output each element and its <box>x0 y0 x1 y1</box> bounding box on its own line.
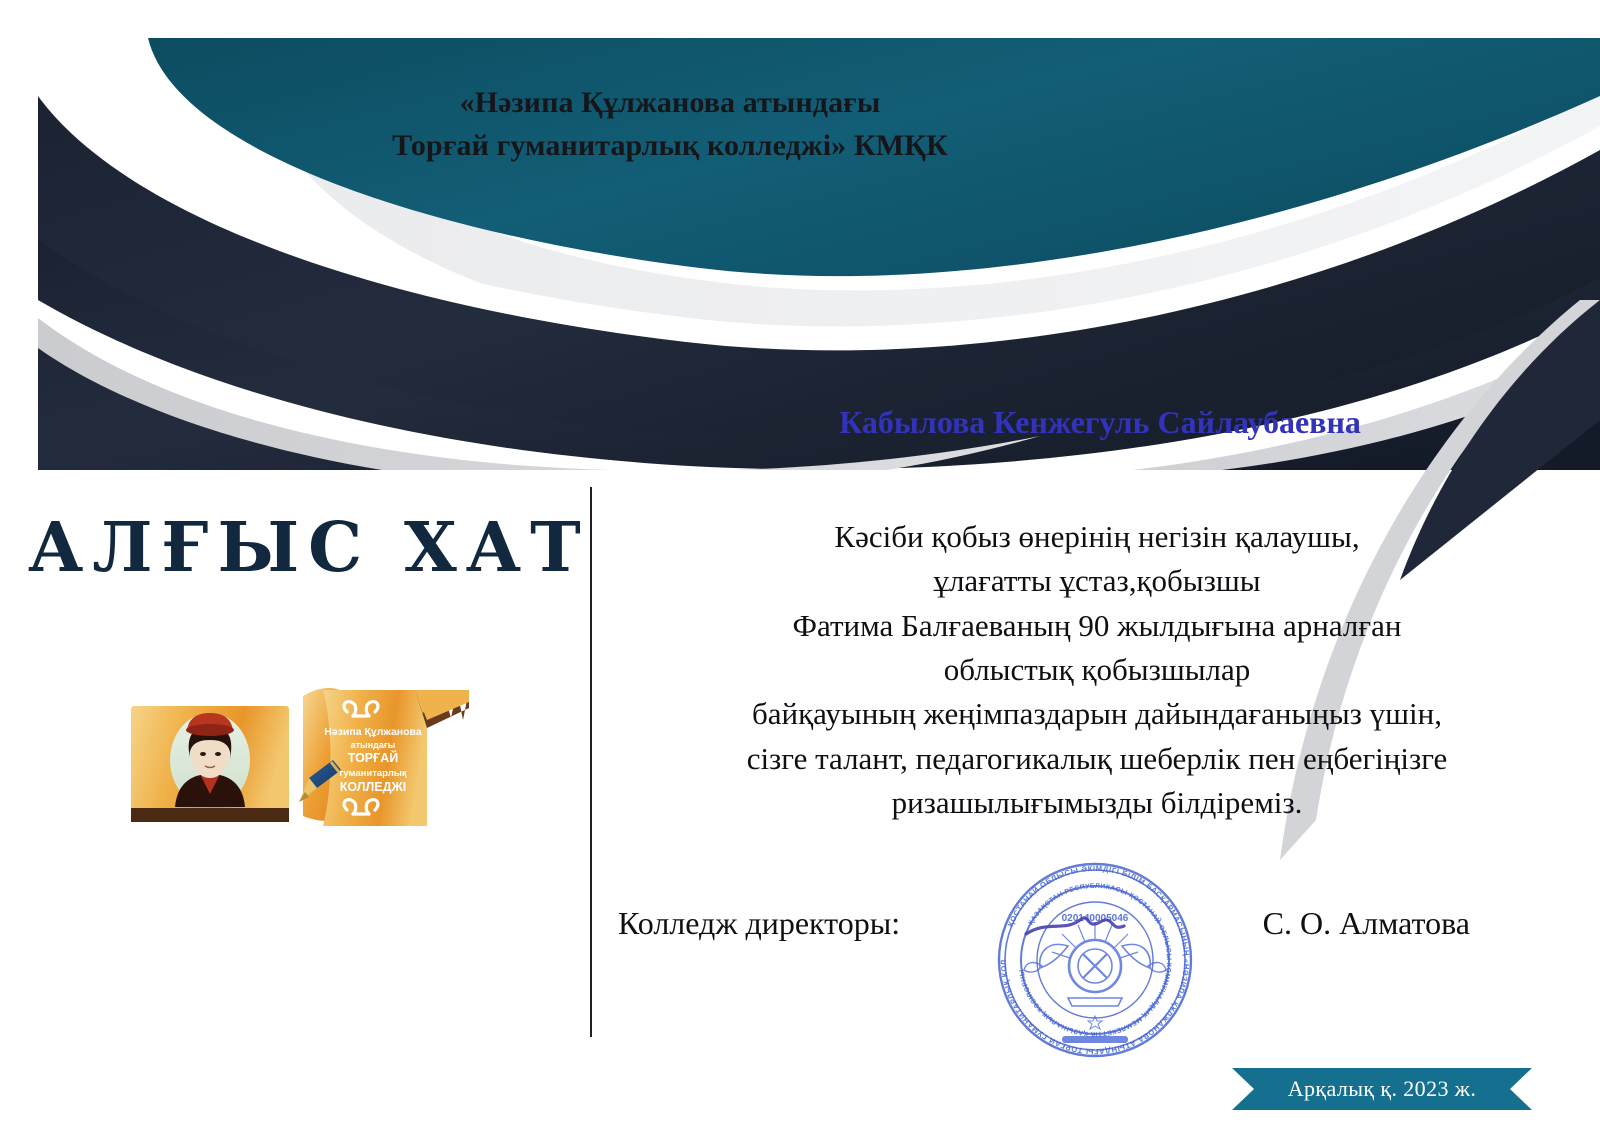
certificate-page: «Нәзипа Құлжанова атындағы Торғай гумани… <box>0 0 1600 1131</box>
official-seal-stamp: ҚОСТАНАЙ ОБЛЫСЫ ӘКІМДІГІ БІЛІМ БАСҚАРМАС… <box>990 848 1200 1063</box>
organization-title-line-2: Торғай гуманитарлық колледжі» КМҚК <box>300 125 1040 168</box>
body-line-4: облыстық қобызшылар <box>594 648 1600 692</box>
seal-emblem-wing-right <box>1122 944 1150 968</box>
organization-title-line-1: «Нәзипа Құлжанова атындағы <box>300 82 1040 125</box>
seal-emblem-horse-left <box>1024 963 1042 973</box>
ribbon-date-text: Арқалық қ. 2023 ж. <box>1232 1068 1532 1110</box>
seal-emblem-star <box>1088 1016 1102 1029</box>
emblem-line-2: атындағы <box>351 740 396 750</box>
emblem-line-1: Нәзипа Құлжанова <box>324 726 422 738</box>
seal-emblem-shanyrak-inner <box>1078 949 1112 983</box>
college-emblem-logo: Нәзипа Құлжанова атындағы ТОРҒАЙ гуманит… <box>127 668 472 848</box>
signature-row: Колледж директоры: С. О. Алматова <box>600 905 1540 942</box>
body-line-1: Кәсіби қобыз өнерінің негізін қалаушы, <box>594 515 1600 559</box>
director-role-label: Колледж директоры: <box>600 905 900 942</box>
seal-outer-text: ҚОСТАНАЙ ОБЛЫСЫ ӘКІМДІГІ БІЛІМ БАСҚАРМАС… <box>990 848 1191 1056</box>
emblem-line-5: КОЛЛЕДЖІ <box>340 780 407 794</box>
body-line-3: Фатима Балғаеваның 90 жылдығына арналған <box>594 604 1600 648</box>
seal-emblem-cross <box>1083 954 1107 978</box>
seal-emblem-wing-left <box>1040 944 1068 968</box>
page-title: АЛҒЫС ХАТ <box>28 508 573 588</box>
seal-ring-1 <box>999 864 1191 1056</box>
vertical-divider <box>590 487 592 1037</box>
wave-separator-white-lower <box>38 300 1600 470</box>
body-line-6: сізге талант, педагогикалық шеберлік пен… <box>594 737 1600 781</box>
body-line-7: ризашылығымызды білдіреміз. <box>594 781 1600 825</box>
seal-emblem-base <box>1068 998 1122 1006</box>
seal-bottom-ribbon <box>1062 1036 1128 1043</box>
recipient-name: Кабылова Кенжегуль Сайлаубаевна <box>600 404 1600 441</box>
seal-emblem-horse-right <box>1148 963 1166 973</box>
body-line-2: ұлағатты ұстаз,қобызшы <box>594 559 1600 603</box>
emblem-portrait-eye-left <box>200 752 206 756</box>
emblem-line-3: ТОРҒАЙ <box>348 750 398 765</box>
director-name: С. О. Алматова <box>1263 905 1540 942</box>
decorative-wave-header <box>0 0 1600 470</box>
award-body-text: Кәсіби қобыз өнерінің негізін қалаушы, ұ… <box>594 515 1600 825</box>
emblem-portrait-eye-right <box>215 752 221 756</box>
wave-band-gray-right <box>1010 330 1600 470</box>
emblem-line-4: гуманитарлық <box>339 768 407 779</box>
organization-title: «Нәзипа Құлжанова атындағы Торғай гумани… <box>300 82 1040 167</box>
emblem-book-spine <box>131 808 289 822</box>
seal-emblem-shanyrak-outer <box>1069 940 1121 992</box>
body-line-5: байқауының жеңімпаздарын дайындағаныңыз … <box>594 692 1600 736</box>
emblem-portrait-cap-band <box>186 724 234 736</box>
wave-band-gray <box>38 318 1040 470</box>
seal-ring-2 <box>1005 870 1185 1050</box>
